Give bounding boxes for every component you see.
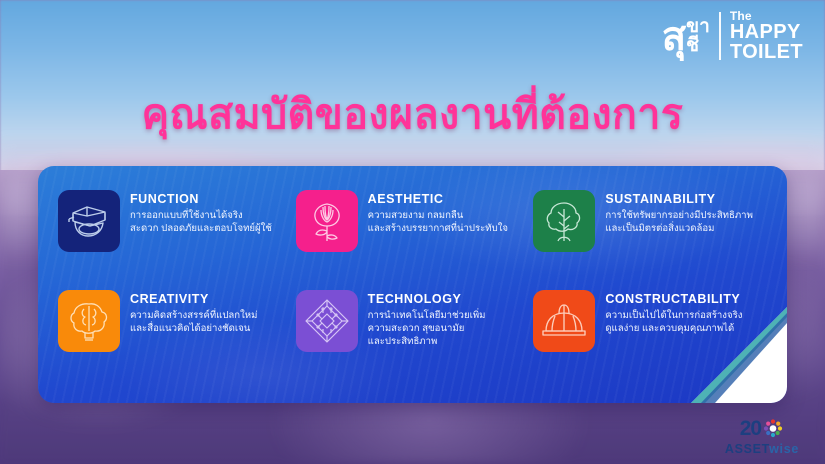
brain-icon [63,295,115,347]
feature-constructability-text: CONSTRUCTABILITY ความเป็นไปได้ในการก่อสร… [605,290,742,335]
feature-technology-desc: การนำเทคโนโลยีมาช่วยเพิ่ม ความสะดวก สุขอ… [368,309,486,348]
feature-sustainability-desc: การใช้ทรัพยากรอย่างมีประสิทธิภาพ และเป็น… [605,209,753,235]
feature-technology-tile [296,290,358,352]
circuit-diamond-icon [301,295,353,347]
desc-line: ความคิดสร้างสรรค์ที่แปลกใหม่ [130,309,257,322]
feature-aesthetic-text: AESTHETIC ความสวยงาม กลมกลืน และสร้างบรร… [368,190,508,235]
feature-function-desc: การออกแบบที่ใช้งานได้จริง สะดวก ปลอดภัยแ… [130,209,272,235]
desc-line: ความเป็นไปได้ในการก่อสร้างจริง [605,309,742,322]
logo-thai-big: สุ [662,19,685,56]
assetwise-wise: wise [769,442,799,456]
desc-line: ความสะดวก สุขอนามัย [368,322,486,335]
desc-line: และสร้างบรรยากาศที่น่าประทับใจ [368,222,508,235]
desc-line: และประสิทธิภาพ [368,335,486,348]
assetwise-anniversary-mark: 20 [725,415,799,441]
rose-flower-icon [301,195,353,247]
desc-line: การออกแบบที่ใช้งานได้จริง [130,209,272,222]
feature-aesthetic[interactable]: AESTHETIC ความสวยงาม กลมกลืน และสร้างบรร… [296,190,532,286]
feature-constructability[interactable]: CONSTRUCTABILITY ความเป็นไปได้ในการก่อสร… [533,290,769,386]
feature-function[interactable]: FUNCTION การออกแบบที่ใช้งานได้จริง สะดวก… [58,190,294,286]
desc-line: ดูแลง่าย และควบคุมคุณภาพได้ [605,322,742,335]
features-grid: FUNCTION การออกแบบที่ใช้งานได้จริง สะดวก… [38,166,787,403]
feature-constructability-desc: ความเป็นไปได้ในการก่อสร้างจริง ดูแลง่าย … [605,309,742,335]
feature-creativity[interactable]: CREATIVITY ความคิดสร้างสรรค์ที่แปลกใหม่ … [58,290,294,386]
logo-toilet: TOILET [730,42,803,62]
feature-creativity-text: CREATIVITY ความคิดสร้างสรรค์ที่แปลกใหม่ … [130,290,257,335]
hard-hat-icon [538,295,590,347]
feature-sustainability-text: SUSTAINABILITY การใช้ทรัพยากรอย่างมีประส… [605,190,753,235]
desc-line: การนำเทคโนโลยีมาช่วยเพิ่ม [368,309,486,322]
feature-constructability-tile [533,290,595,352]
desc-line: สะดวก ปลอดภัยและตอบโจทย์ผู้ใช้ [130,222,272,235]
feature-function-heading: FUNCTION [130,192,272,206]
toilet-icon [63,195,115,247]
logo-happy: HAPPY [730,22,803,42]
logo-thai-line2: ชี [686,36,710,55]
feature-sustainability-tile [533,190,595,252]
feature-sustainability-heading: SUSTAINABILITY [605,192,753,206]
assetwise-asset: ASSET [725,442,769,456]
feature-technology-text: TECHNOLOGY การนำเทคโนโลยีมาช่วยเพิ่ม ควา… [368,290,486,349]
feature-creativity-heading: CREATIVITY [130,292,257,306]
assetwise-logo: 20 ASSETwise [725,415,799,456]
feature-aesthetic-tile [296,190,358,252]
tree-icon [538,195,590,247]
feature-creativity-tile [58,290,120,352]
happy-toilet-logo: สุ ขา ชี The HAPPY TOILET [662,10,803,63]
feature-function-tile [58,190,120,252]
feature-aesthetic-heading: AESTHETIC [368,192,508,206]
assetwise-anniversary-number: 20 [740,418,761,439]
feature-sustainability[interactable]: SUSTAINABILITY การใช้ทรัพยากรอย่างมีประส… [533,190,769,286]
desc-line: ความสวยงาม กลมกลืน [368,209,508,222]
colorful-ring-icon [762,417,784,439]
feature-creativity-desc: ความคิดสร้างสรรค์ที่แปลกใหม่ และสื่อแนวค… [130,309,257,335]
desc-line: และเป็นมิตรต่อสิ่งแวดล้อม [605,222,753,235]
page-title: คุณสมบัติของผลงานที่ต้องการ [0,82,825,147]
logo-english-text: The HAPPY TOILET [730,10,803,63]
feature-aesthetic-desc: ความสวยงาม กลมกลืน และสร้างบรรยากาศที่น่… [368,209,508,235]
logo-thai-line1: ขา [686,17,710,36]
feature-technology-heading: TECHNOLOGY [368,292,486,306]
feature-function-text: FUNCTION การออกแบบที่ใช้งานได้จริง สะดวก… [130,190,272,235]
logo-divider [719,12,721,60]
assetwise-wordmark: ASSETwise [725,442,799,456]
desc-line: การใช้ทรัพยากรอย่างมีประสิทธิภาพ [605,209,753,222]
desc-line: และสื่อแนวคิดได้อย่างชัดเจน [130,322,257,335]
feature-technology[interactable]: TECHNOLOGY การนำเทคโนโลยีมาช่วยเพิ่ม ควา… [296,290,532,386]
feature-constructability-heading: CONSTRUCTABILITY [605,292,742,306]
features-panel: FUNCTION การออกแบบที่ใช้งานได้จริง สะดวก… [38,166,787,403]
logo-thai-text: สุ ขา ชี [662,17,710,56]
